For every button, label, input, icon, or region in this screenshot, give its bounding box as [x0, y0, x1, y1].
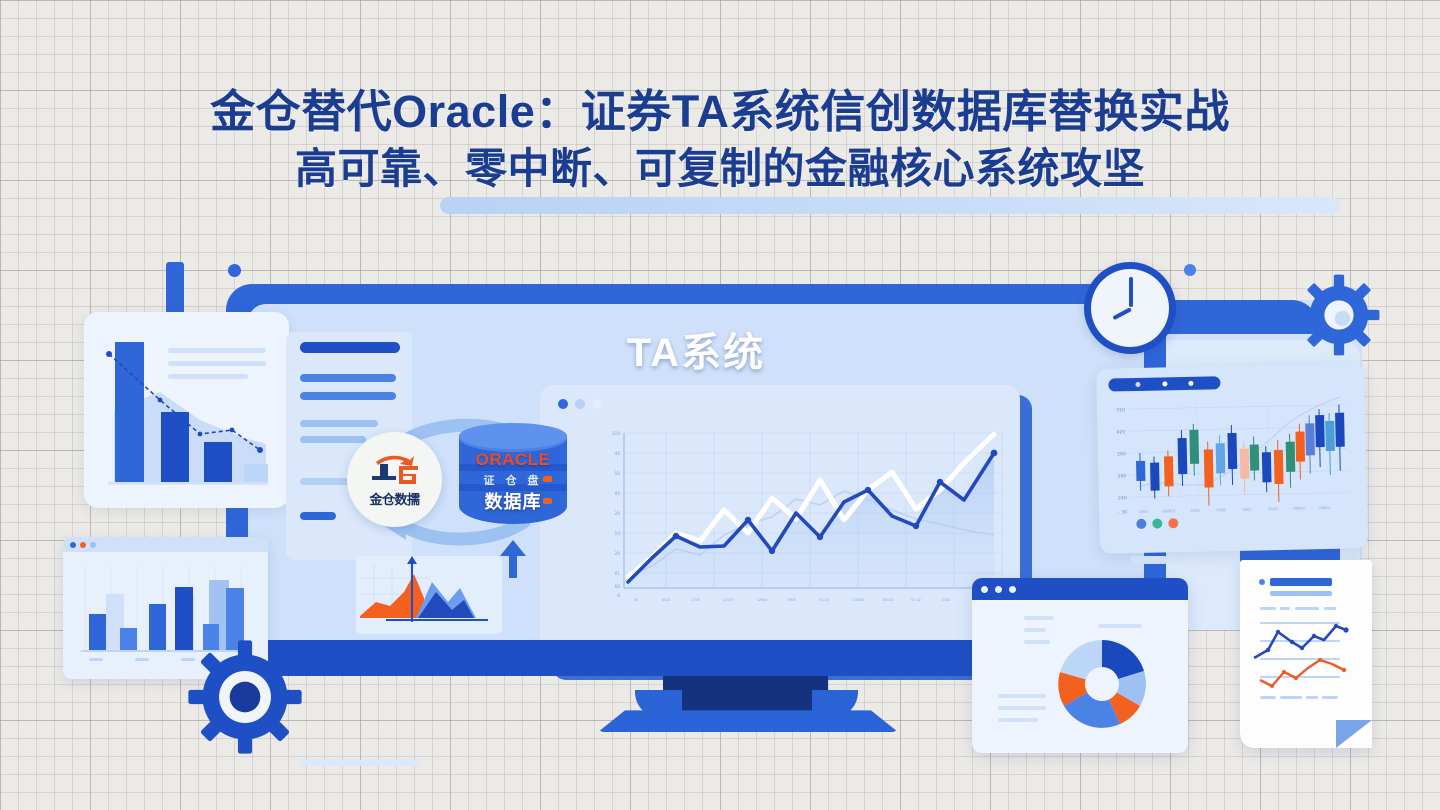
svg-text:2730: 2730: [692, 598, 701, 602]
svg-text:420: 420: [1117, 429, 1126, 435]
svg-text:20: 20: [615, 511, 621, 516]
svg-text:0304: 0304: [1138, 510, 1148, 514]
svg-text:04-00: 04-00: [819, 598, 829, 602]
svg-text:8930: 8930: [788, 598, 797, 602]
pie-dot-1[interactable]: [981, 586, 988, 593]
report-document-card: [1240, 560, 1372, 748]
svg-text:85010: 85010: [883, 598, 894, 602]
doc-text-bar-6: [300, 512, 336, 520]
monitor-screen-title: TA系统: [248, 320, 1144, 378]
cylinder-indicator-1: [543, 476, 552, 482]
svg-text:30: 30: [634, 598, 638, 602]
deco-bar-2: [300, 760, 420, 766]
pie-dot-2[interactable]: [995, 586, 1002, 593]
donut-chart-window: [972, 578, 1188, 753]
clock-hour-hand: [1129, 277, 1133, 307]
gear-icon-bottom-left: [186, 638, 304, 756]
donut-segments: [1058, 640, 1146, 728]
svg-text:-0: -0: [616, 593, 621, 598]
window-dot-1[interactable]: [558, 399, 568, 409]
doc-text-bar-2: [300, 392, 396, 400]
pie-window-dots: [981, 586, 1016, 593]
svg-text:- 30: - 30: [1118, 509, 1127, 515]
svg-text:00: 00: [615, 491, 621, 496]
kingbase-logo-mark: [366, 452, 424, 488]
monitor-stand-base: [598, 708, 898, 732]
page-title: 金仓替代Oracle：证券TA系统信创数据库替换实战: [0, 84, 1440, 141]
window-dot-3[interactable]: [592, 399, 602, 409]
cylinder-top-face: [459, 423, 567, 449]
mountain-area-chart: [356, 556, 502, 634]
svg-text:240: 240: [1118, 495, 1127, 501]
svg-text:07-02: 07-02: [911, 598, 921, 602]
svg-text:01: 01: [615, 571, 621, 576]
window-dot-2[interactable]: [575, 399, 585, 409]
svg-text:080801: 080801: [1162, 509, 1176, 513]
svg-text:0109: 0109: [1190, 509, 1200, 513]
bl-window-titlebar: [63, 537, 268, 552]
monitor-stand-neck: [663, 676, 828, 716]
donut-chart: [972, 600, 1188, 753]
svg-text:310: 310: [612, 431, 620, 436]
svg-text:0410: 0410: [1268, 507, 1278, 511]
bl-dot-1[interactable]: [70, 542, 76, 548]
main-line-chart: 31040 5000 2010 2001 60-0 308925 2730124…: [596, 425, 1006, 610]
oracle-database-cylinder: ORACLE 证 仓 盘 数据库: [459, 424, 567, 534]
gear-icon-top-right: [1296, 272, 1382, 358]
svg-text:8925: 8925: [662, 598, 671, 602]
svg-text:60: 60: [615, 584, 621, 589]
deco-dot-clock: [1184, 264, 1196, 276]
svg-text:12470: 12470: [723, 598, 734, 602]
cylinder-indicator-2: [543, 498, 552, 504]
candle-dot-3[interactable]: [1189, 381, 1194, 386]
kingbase-logo: 金仓数擩: [347, 432, 442, 527]
candlestick-chart: 310420 280280 240- 30 0304080801 0109030…: [1097, 386, 1368, 532]
svg-text:06001: 06001: [1319, 506, 1331, 510]
kingbase-logo-text: 金仓数擩: [369, 489, 419, 508]
candle-y-ticks: 310420 280280 240- 30: [1116, 407, 1127, 515]
svg-text:50: 50: [615, 471, 621, 476]
svg-text:40: 40: [615, 451, 621, 456]
candle-dot-1[interactable]: [1135, 382, 1140, 387]
pie-window-titlebar: [972, 578, 1188, 600]
svg-text:08003: 08003: [1293, 506, 1305, 510]
svg-text:0308: 0308: [1216, 508, 1226, 512]
candle-legend-dots: [1136, 518, 1178, 529]
pie-dot-3[interactable]: [1009, 586, 1016, 593]
candle-dot-2[interactable]: [1162, 381, 1167, 386]
svg-text:20: 20: [615, 551, 621, 556]
page-subtitle: 高可靠、零中断、可复制的金融核心系统攻坚: [0, 143, 1440, 196]
database-brand-label: ORACLE: [459, 450, 567, 470]
chart-x-ticks: 308925 273012470 328008930 04-00120820 8…: [634, 598, 985, 602]
svg-text:0601: 0601: [1242, 508, 1251, 512]
bl-dot-3[interactable]: [90, 542, 96, 548]
chart-y-ticks: 31040 5000 2010 2001 60-0: [612, 431, 620, 598]
bl-dot-2[interactable]: [80, 542, 86, 548]
svg-text:120820: 120820: [852, 598, 865, 602]
deco-dot: [228, 264, 241, 277]
svg-text:280: 280: [1118, 473, 1127, 479]
svg-text:280: 280: [1117, 451, 1126, 457]
svg-text:0104: 0104: [942, 598, 951, 602]
candlestick-window: 310420 280280 240- 30 0304080801 0109030…: [1096, 363, 1368, 554]
window-dots: [558, 399, 1020, 409]
clock-minute-hand: [1112, 307, 1132, 320]
screen-window-titlebar: [540, 385, 1020, 409]
svg-text:32800: 32800: [757, 598, 768, 602]
deco-bar-tall: [166, 262, 184, 318]
clock-icon: [1084, 262, 1176, 354]
svg-text:10: 10: [615, 531, 621, 536]
svg-text:310: 310: [1116, 407, 1125, 413]
report-document-chart: [1240, 560, 1372, 748]
candle-x-ticks: 0304080801 01090308 06010410 0800306001: [1138, 506, 1330, 514]
mountain-area-card: [356, 556, 502, 634]
deco-bar-1: [1130, 556, 1168, 564]
page-header: 金仓替代Oracle：证券TA系统信创数据库替换实战 高可靠、零中断、可复制的金…: [0, 84, 1440, 196]
